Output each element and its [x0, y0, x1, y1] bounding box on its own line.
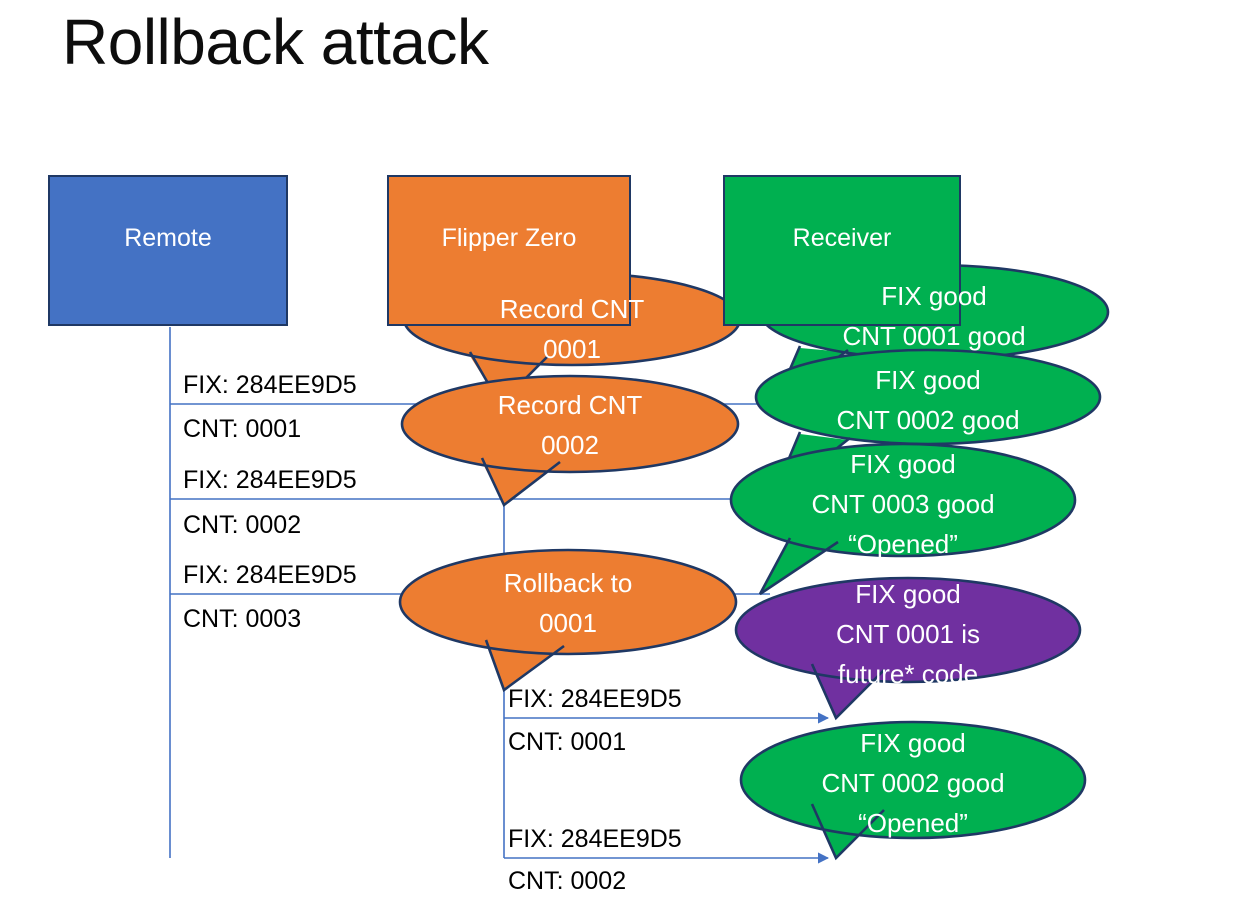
actor-label-flipper: Flipper Zero [389, 224, 629, 253]
message-cnt-m2: CNT: 0002 [183, 510, 301, 540]
message-fix-m3: FIX: 284EE9D5 [183, 560, 357, 590]
message-fix-m4: FIX: 284EE9D5 [508, 684, 682, 714]
message-cnt-m4: CNT: 0001 [508, 727, 626, 757]
message-cnt-m1: CNT: 0001 [183, 414, 301, 444]
bubble-rx-0002-opened [741, 722, 1085, 858]
message-fix-m2: FIX: 284EE9D5 [183, 465, 357, 495]
actor-box-flipper[interactable]: Flipper Zero [387, 175, 631, 326]
bubble-record-0002 [402, 376, 738, 505]
actor-label-remote: Remote [50, 224, 286, 253]
diagram-svg [0, 0, 1233, 898]
actor-label-receiver: Receiver [725, 224, 959, 253]
actor-box-remote[interactable]: Remote [48, 175, 288, 326]
message-cnt-m3: CNT: 0003 [183, 604, 301, 634]
bubble-rx-future-code [736, 578, 1080, 718]
bubble-rx-0003-opened [731, 444, 1075, 594]
slide-canvas: Rollback attack [0, 0, 1233, 898]
bubble-rollback-0001 [400, 550, 736, 690]
speech-bubbles [400, 265, 1108, 858]
actor-box-receiver[interactable]: Receiver [723, 175, 961, 326]
message-cnt-m5: CNT: 0002 [508, 866, 626, 896]
message-fix-m1: FIX: 284EE9D5 [183, 370, 357, 400]
message-fix-m5: FIX: 284EE9D5 [508, 824, 682, 854]
